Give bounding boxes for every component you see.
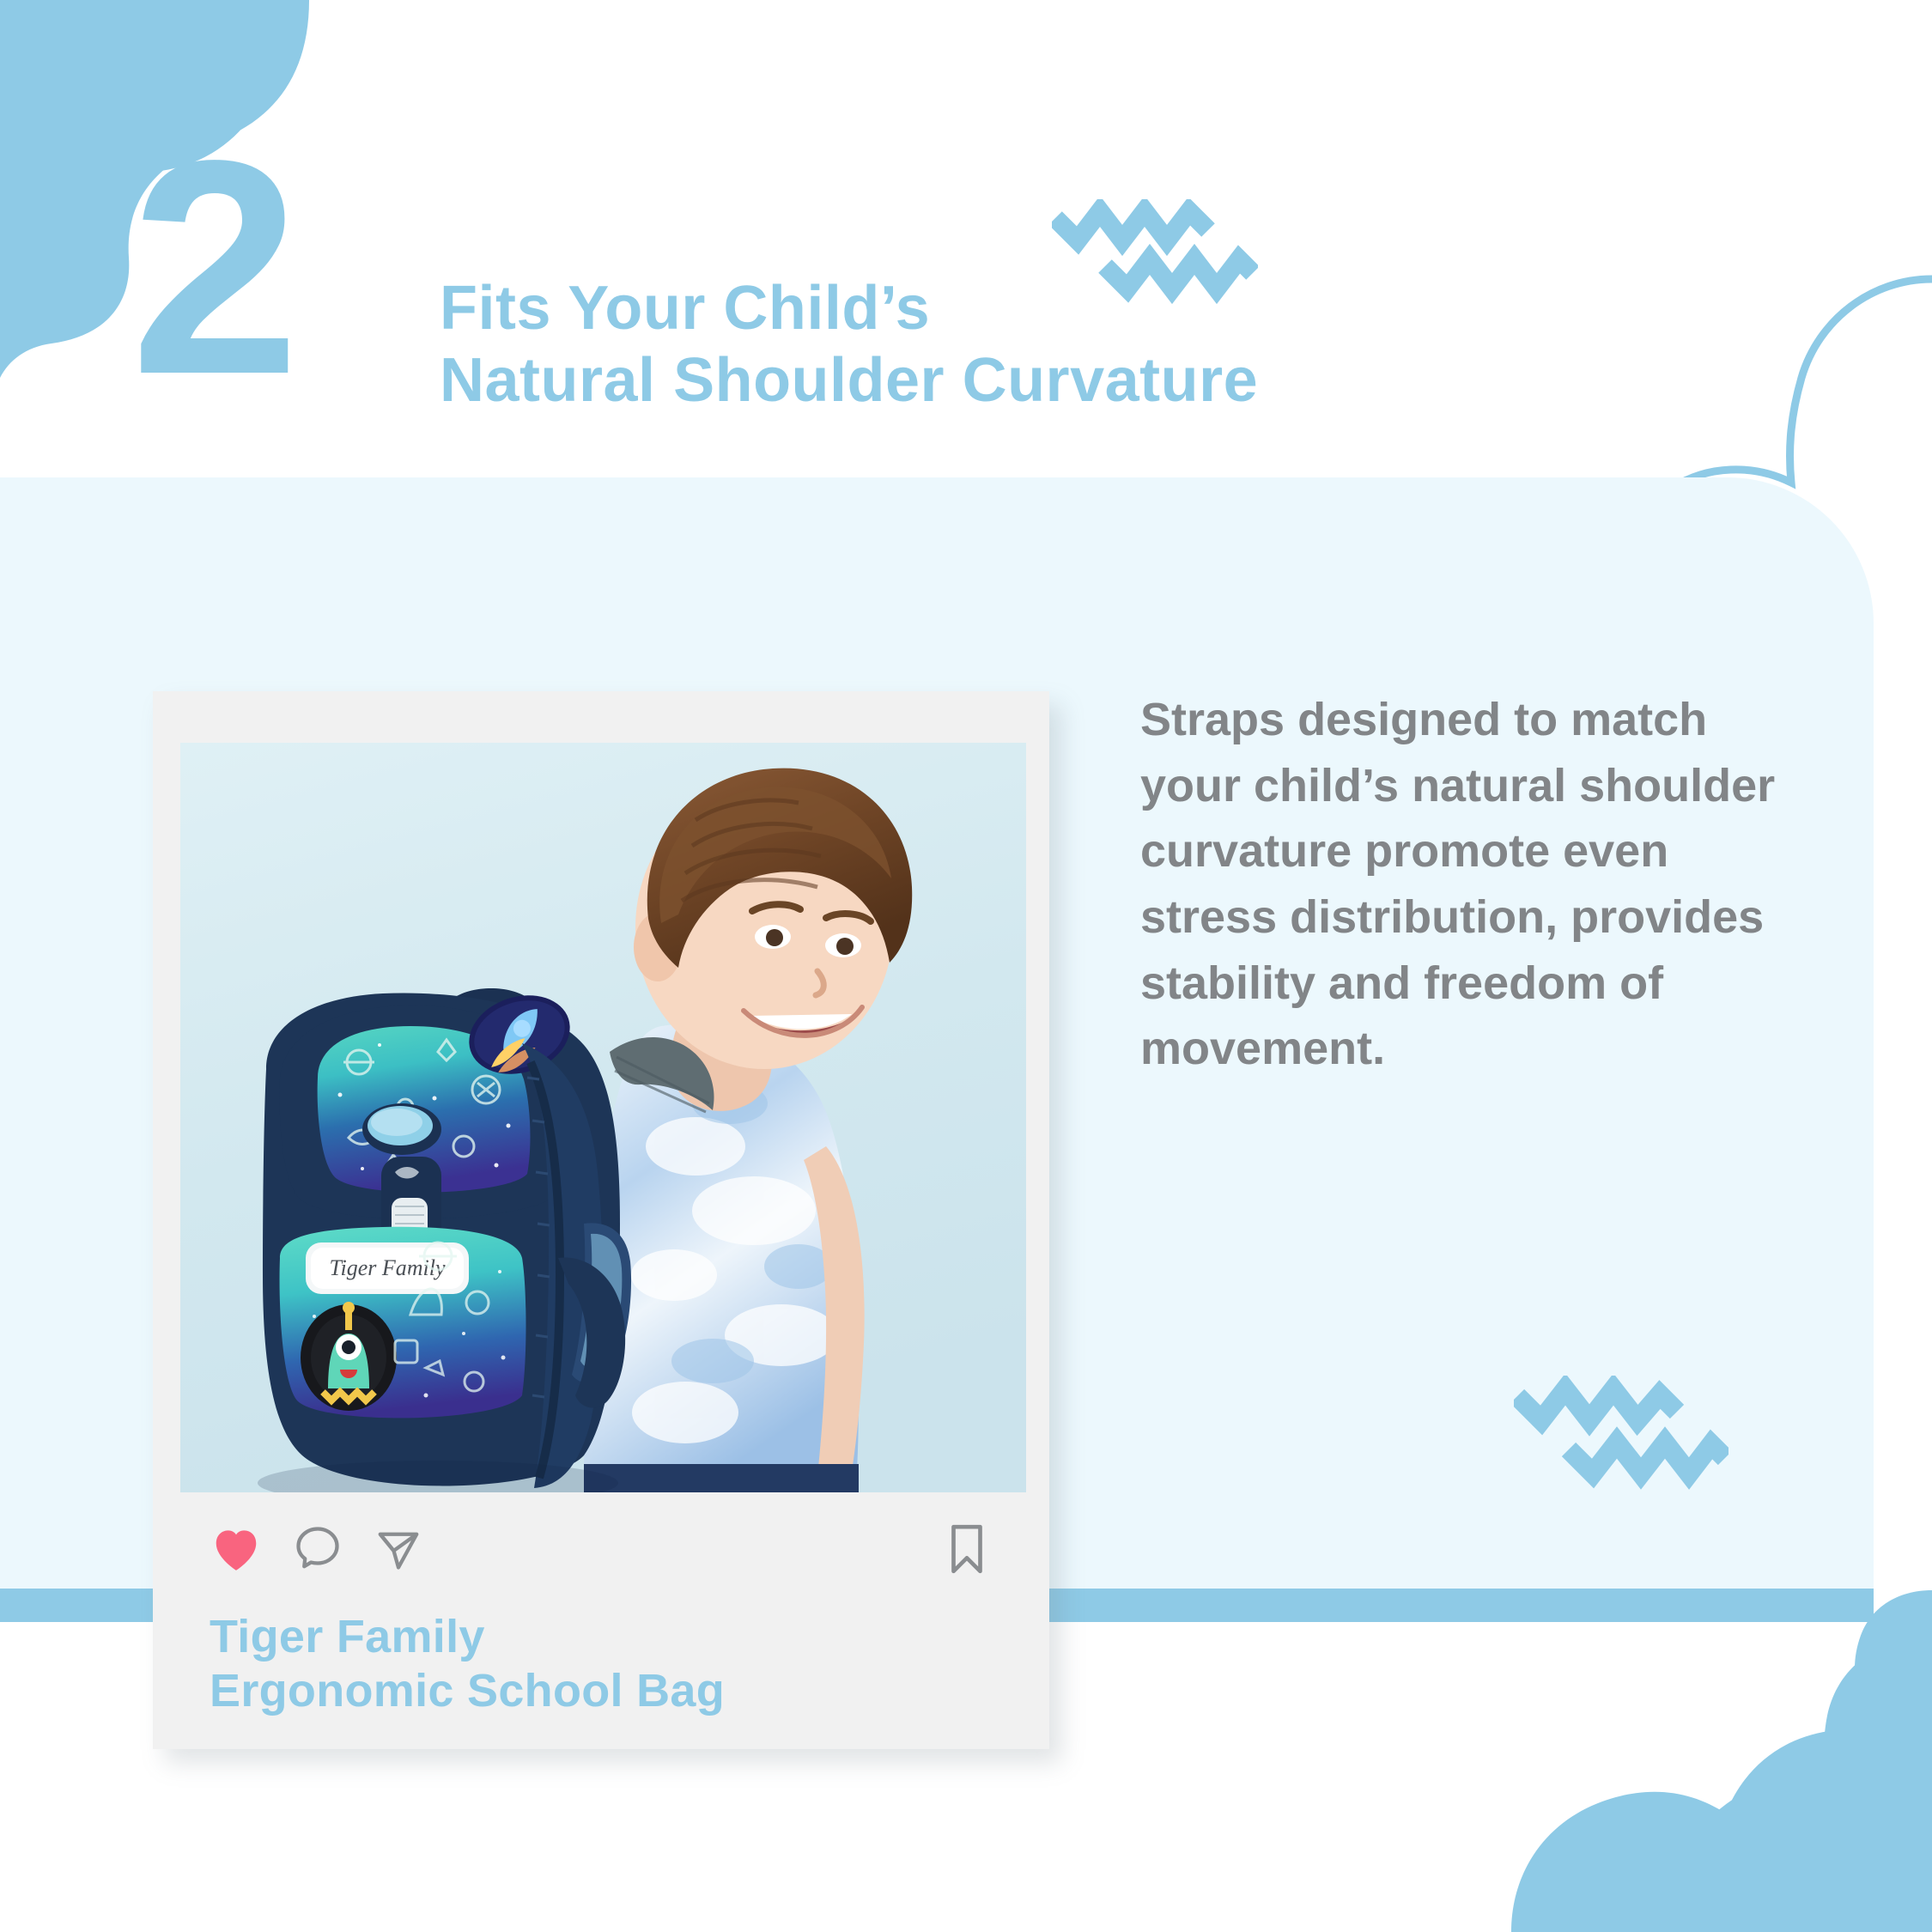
product-photo: Tiger Family xyxy=(180,743,1026,1492)
bookmark-icon[interactable] xyxy=(945,1564,989,1579)
comment-icon[interactable] xyxy=(292,1522,343,1578)
zigzag-decoration-top xyxy=(1052,199,1258,311)
post-caption: Tiger Family Ergonomic School Bag xyxy=(210,1610,725,1717)
product-photo-illustration: Tiger Family xyxy=(180,743,1026,1492)
zigzag-decoration-bottom xyxy=(1514,1376,1728,1496)
feature-description: Straps designed to match your child’s na… xyxy=(1140,687,1793,1082)
bag-brand-label: Tiger Family xyxy=(329,1255,446,1280)
poster-canvas: 2 Fits Your Child’s Natural Shoulder Cur… xyxy=(0,0,1932,1932)
header: 2 Fits Your Child’s Natural Shoulder Cur… xyxy=(0,0,1932,477)
step-number: 2 xyxy=(131,116,293,421)
instagram-post-card[interactable]: Tiger Family xyxy=(153,691,1049,1749)
share-icon[interactable] xyxy=(373,1522,424,1578)
post-actions-bar xyxy=(153,1505,1049,1608)
cloud-shape-bottom-right xyxy=(1460,1589,1932,1932)
like-icon[interactable] xyxy=(210,1523,263,1577)
